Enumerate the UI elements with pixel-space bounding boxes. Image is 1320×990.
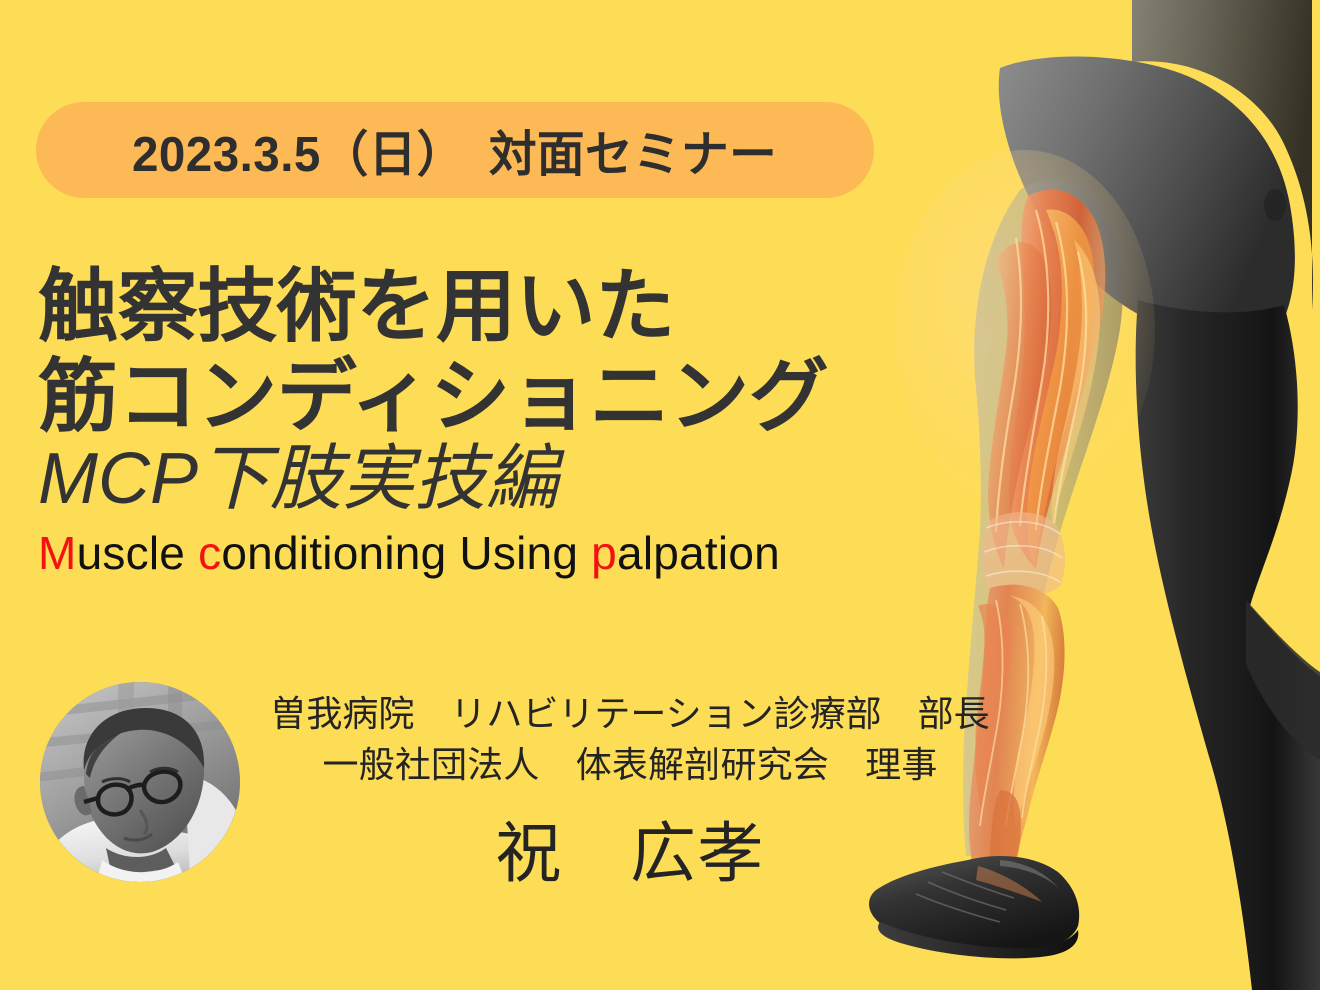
title-line-2: 筋コンディショニング [38, 352, 938, 442]
speaker-name: 祝 広孝 [250, 800, 1010, 896]
subtitle-en-seg-5: alpation [617, 527, 780, 579]
title-line-1: 触察技術を用いた [38, 262, 938, 352]
date-badge-label: 2023.3.5（日） 対面セミナー [132, 115, 777, 186]
seminar-poster: 2023.3.5（日） 対面セミナー 触察技術を用いた 筋コンディショニング M… [0, 0, 1320, 990]
title-block: 触察技術を用いた 筋コンディショニング MCP下肢実技編 Muscle cond… [38, 262, 938, 579]
speaker-avatar [40, 682, 240, 882]
subtitle-en-seg-4: p [591, 527, 617, 579]
subtitle-english: Muscle conditioning Using palpation [38, 528, 938, 579]
subtitle-en-seg-1: uscle [77, 527, 199, 579]
subtitle-en-seg-0: M [38, 527, 77, 579]
affiliation-line-1: 曽我病院 リハビリテーション診療部 部長 [250, 688, 1010, 739]
affiliation-line-2: 一般社団法人 体表解剖研究会 理事 [250, 739, 1010, 790]
speaker-affiliation-block: 曽我病院 リハビリテーション診療部 部長 一般社団法人 体表解剖研究会 理事 [250, 688, 1010, 790]
subtitle-en-seg-3: onditioning Using [221, 527, 591, 579]
subtitle-japanese: MCP下肢実技編 [38, 437, 938, 522]
subtitle-en-seg-2: c [198, 527, 221, 579]
date-badge: 2023.3.5（日） 対面セミナー [36, 102, 874, 198]
